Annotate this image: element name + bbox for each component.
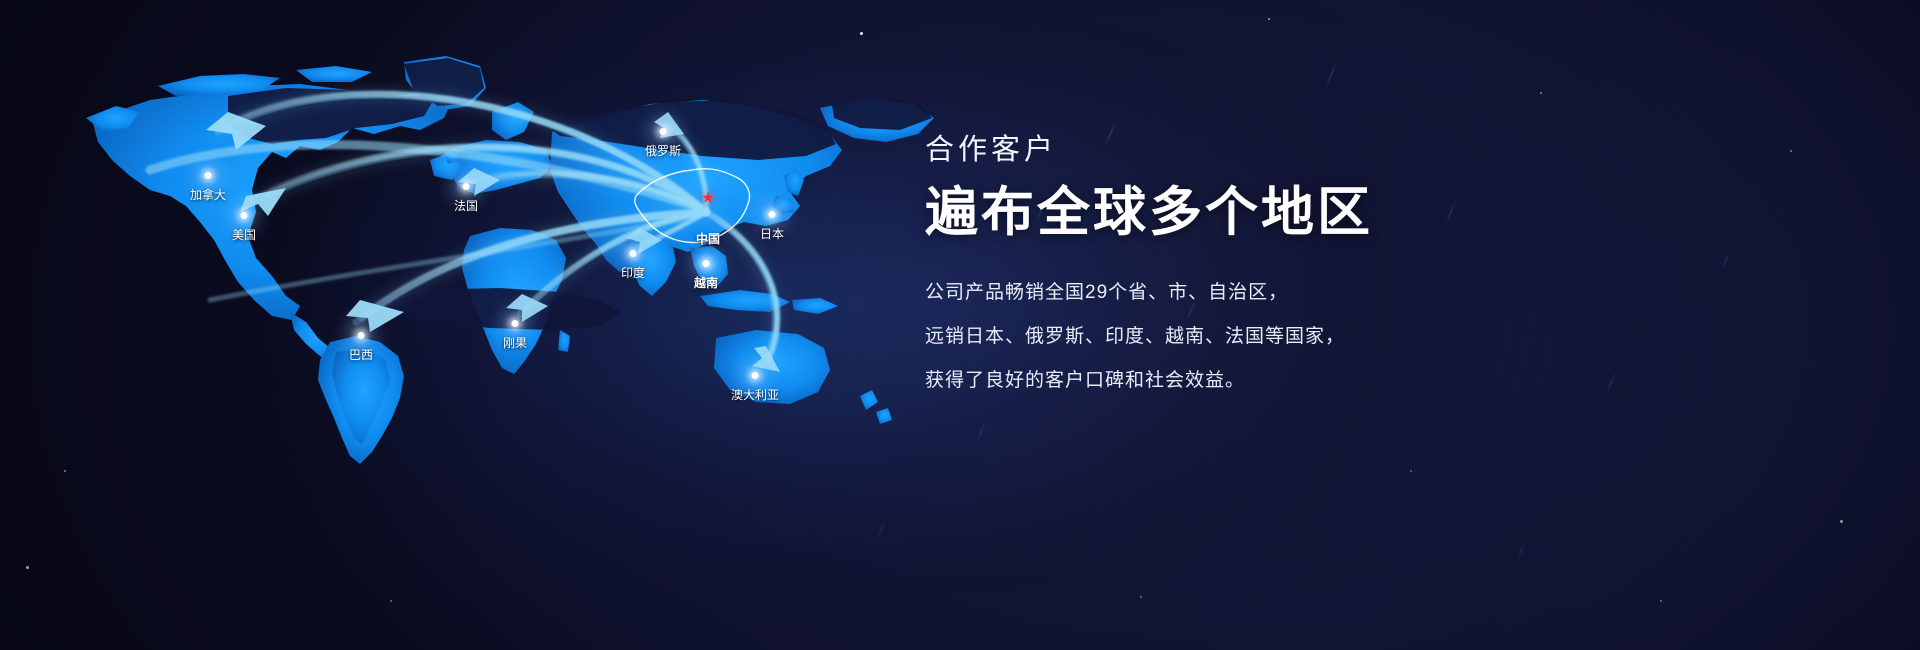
description-line: 公司产品畅销全国29个省、市、自治区， xyxy=(925,278,1485,308)
global-clients-banner: ★ 中国 加拿大 美国 巴西 刚果 法国 俄罗斯 印度 xyxy=(0,0,1920,650)
world-map: ★ 中国 加拿大 美国 巴西 刚果 法国 俄罗斯 印度 xyxy=(0,0,960,650)
banner-eyebrow: 合作客户 xyxy=(925,130,1485,170)
continents xyxy=(86,56,934,464)
banner-description: 公司产品畅销全国29个省、市、自治区， 远销日本、俄罗斯、印度、越南、法国等国家… xyxy=(925,278,1485,396)
banner-headline: 遍布全球多个地区 xyxy=(925,182,1485,244)
description-line: 远销日本、俄罗斯、印度、越南、法国等国家， xyxy=(925,322,1485,352)
banner-copy: 合作客户 遍布全球多个地区 公司产品畅销全国29个省、市、自治区， 远销日本、俄… xyxy=(925,130,1485,410)
description-line: 获得了良好的客户口碑和社会效益。 xyxy=(925,366,1485,396)
